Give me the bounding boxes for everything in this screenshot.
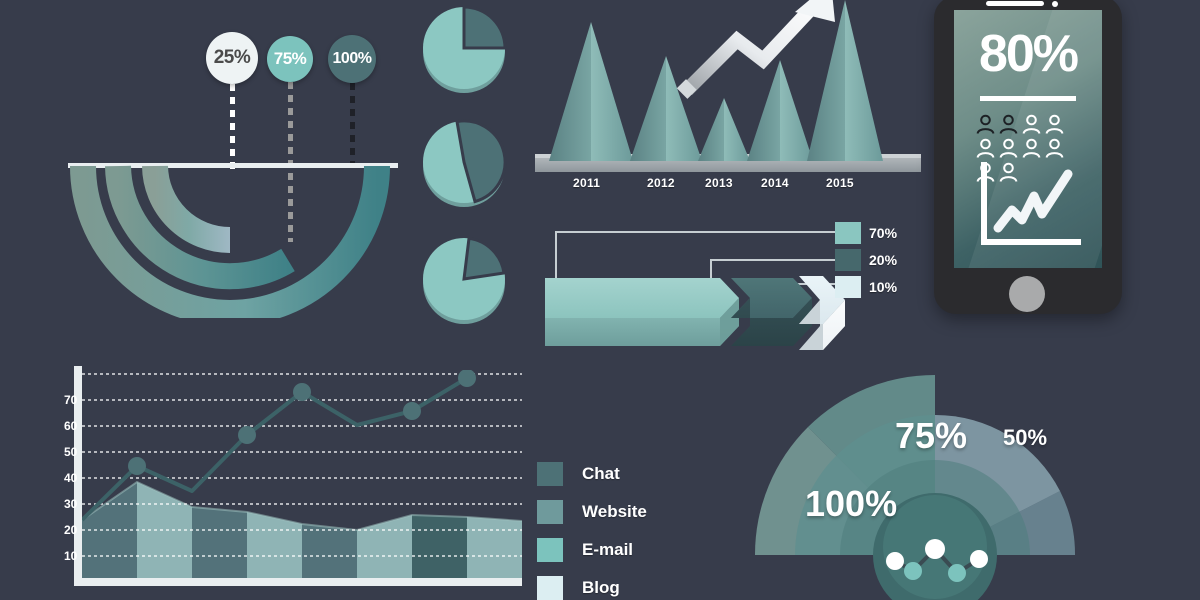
cone-2012 (630, 56, 702, 161)
gauge-label-50: 50% (1003, 425, 1047, 451)
concentric-arc-chart (60, 88, 410, 318)
ytick-10: 10 (64, 549, 78, 563)
pie-chart-top (418, 2, 510, 99)
cone-2013 (698, 98, 750, 161)
cone-year-2015: 2015 (826, 176, 854, 190)
person-icon (1045, 114, 1064, 135)
pie-bot-slice (464, 238, 504, 279)
phone-screen[interactable]: 80% (954, 10, 1102, 268)
funnel-block-20 (731, 278, 812, 346)
bubble-75[interactable]: 75% (267, 36, 313, 82)
bubble-25[interactable]: 25% (206, 32, 258, 84)
line-chart-icon (978, 162, 1084, 252)
ytick-50: 50 (64, 445, 78, 459)
pie-chart-middle (418, 116, 510, 213)
phone-device: 80% (934, 0, 1122, 314)
funnel-swatch-70 (835, 222, 861, 244)
ytick-40: 40 (64, 471, 78, 485)
trend-arrow-icon (677, 0, 835, 99)
bubble-100[interactable]: 100% (328, 35, 376, 83)
cone-bar-chart: 2011 2012 2013 2014 2015 (535, 0, 925, 194)
legend-item-website[interactable]: Website (537, 493, 707, 531)
legend-item-chat[interactable]: Chat (537, 455, 707, 493)
legend-label-chat: Chat (582, 464, 620, 484)
funnel-label-10: 10% (869, 279, 897, 295)
cone-year-2012: 2012 (647, 176, 675, 190)
legend-swatch-email (537, 538, 563, 562)
chart-axis-x (74, 578, 522, 586)
phone-camera-icon (1052, 1, 1058, 7)
funnel-block-70 (545, 278, 739, 346)
gauge-label-75: 75% (895, 415, 967, 457)
phone-percent-value: 80% (954, 24, 1102, 84)
area-line-chart: 70 60 50 40 30 20 10 (50, 352, 530, 600)
pie-chart-bottom (418, 233, 510, 330)
legend-label-email: E-mail (582, 540, 633, 560)
cone-2015 (807, 0, 883, 161)
phone-home-button[interactable] (1009, 276, 1045, 312)
person-icon (999, 114, 1018, 135)
legend-label-blog: Blog (582, 578, 620, 598)
phone-speaker (986, 1, 1044, 6)
cone-2014 (747, 60, 813, 161)
funnel-swatch-10 (835, 276, 861, 298)
legend-swatch-chat (537, 462, 563, 486)
legend-item-blog[interactable]: Blog (537, 569, 707, 600)
ytick-70: 70 (64, 393, 78, 407)
pie-top-slice (464, 7, 505, 48)
ytick-30: 30 (64, 497, 78, 511)
ytick-60: 60 (64, 419, 78, 433)
cone-2011 (549, 22, 633, 161)
cone-year-2011: 2011 (573, 176, 600, 190)
person-icon (999, 138, 1018, 159)
person-icon (1022, 114, 1041, 135)
funnel-label-70: 70% (869, 225, 897, 241)
legend-swatch-website (537, 500, 563, 524)
person-icon (1022, 138, 1041, 159)
phone-divider (980, 96, 1076, 101)
funnel-label-20: 20% (869, 252, 897, 268)
legend-item-email[interactable]: E-mail (537, 531, 707, 569)
funnel-swatch-20 (835, 249, 861, 271)
person-icon (1045, 138, 1064, 159)
infographic-canvas: 25% 75% 100% (0, 0, 1200, 600)
funnel-chart: 70% 20% 10% (535, 222, 935, 357)
channel-legend: Chat Website E-mail Blog (537, 455, 707, 600)
cone-year-2013: 2013 (705, 176, 733, 190)
cone-year-2014: 2014 (761, 176, 789, 190)
radial-gauge-chart: 100% 75% 50% (735, 365, 1135, 600)
ytick-20: 20 (64, 523, 78, 537)
person-icon (976, 138, 995, 159)
gauge-label-100: 100% (805, 483, 897, 525)
legend-swatch-blog (537, 576, 563, 600)
arc-25 (155, 166, 230, 240)
person-icon (976, 114, 995, 135)
legend-label-website: Website (582, 502, 647, 522)
